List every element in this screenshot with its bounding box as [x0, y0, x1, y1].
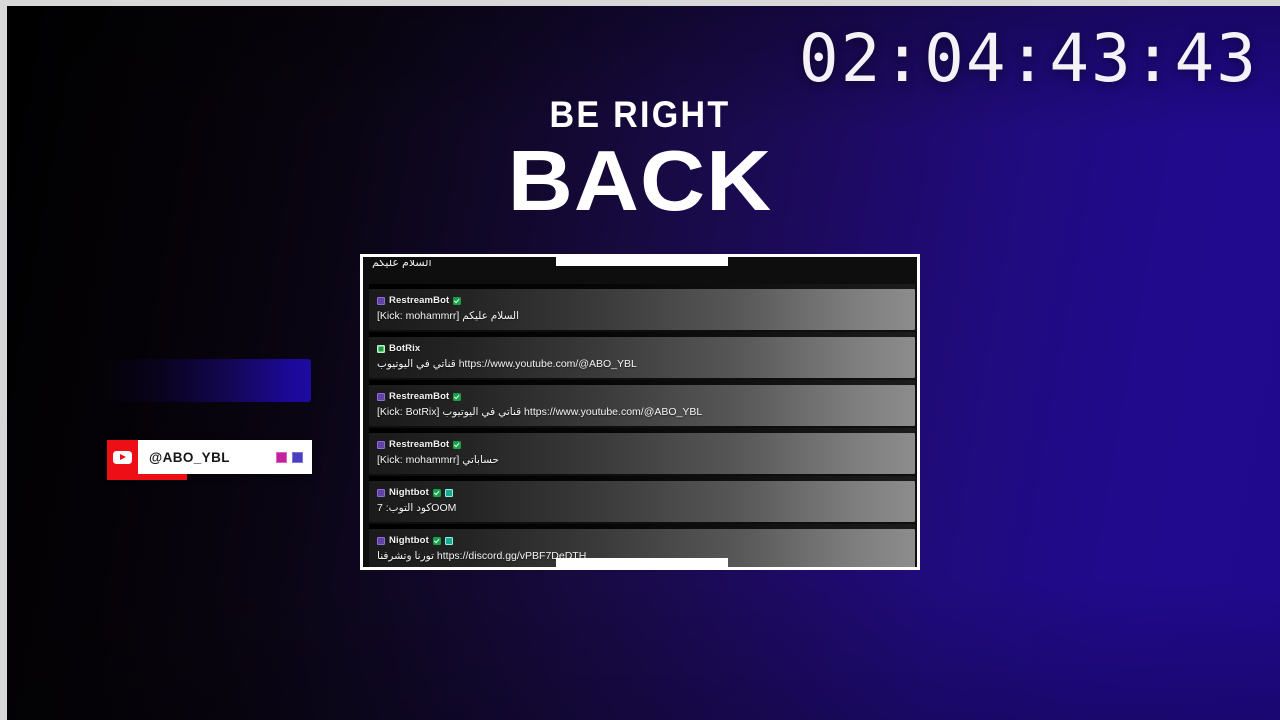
chat-message-row[interactable]: RestreamBot [Kick: BotRix] قناتي في اليو… [369, 385, 915, 426]
lock-badge-icon [445, 537, 453, 545]
chat-username[interactable]: RestreamBot [389, 295, 449, 306]
stream-overlay-screen: 02:04:43:43 BE RIGHT BACK @ABO_YBL السلا… [0, 0, 1280, 720]
chat-scrollbar-top[interactable] [556, 257, 728, 266]
chat-username[interactable]: BotRix [389, 343, 420, 354]
youtube-icon-block [107, 440, 138, 474]
verified-badge-icon [453, 441, 461, 449]
chat-message-text: كود التوب: 7OOM [377, 502, 907, 515]
brb-line-one: BE RIGHT [51, 96, 1229, 133]
verified-badge-icon [453, 393, 461, 401]
window-frame-top [0, 0, 1280, 6]
youtube-handle-badge[interactable]: @ABO_YBL [107, 440, 312, 474]
youtube-handle-text: @ABO_YBL [149, 450, 230, 465]
moderator-badge-icon [377, 537, 385, 545]
chat-username[interactable]: RestreamBot [389, 439, 449, 450]
verified-badge-icon [433, 537, 441, 545]
chat-overlay[interactable]: السلام عليكم RestreamBot [Kick: mohammrr… [360, 254, 920, 570]
brb-headline: BE RIGHT BACK [0, 96, 1280, 226]
youtube-play-icon [113, 451, 132, 464]
moderator-badge-icon [377, 441, 385, 449]
chat-username[interactable]: Nightbot [389, 487, 429, 498]
swatch-magenta [276, 452, 287, 463]
chat-message-header: Nightbot [377, 487, 907, 498]
chat-message-header: RestreamBot [377, 439, 907, 450]
color-swatches [276, 452, 303, 463]
chat-username[interactable]: Nightbot [389, 535, 429, 546]
chat-message-header: RestreamBot [377, 391, 907, 402]
youtube-handle-block: @ABO_YBL [138, 440, 312, 474]
swatch-purple [292, 452, 303, 463]
chat-message-row[interactable]: BotRix قناتي في اليوتيوب https://www.you… [369, 337, 915, 378]
moderator-badge-icon [377, 297, 385, 305]
chat-scrollbar-bottom[interactable] [556, 558, 728, 567]
chat-message-row[interactable]: RestreamBot [Kick: mohammrr] السلام عليك… [369, 289, 915, 330]
chat-message-text: [Kick: mohammrr] حساباتي [377, 454, 907, 467]
chat-message-text: قناتي في اليوتيوب https://www.youtube.co… [377, 358, 907, 371]
chat-message-header: BotRix [377, 343, 907, 354]
countdown-timer: 02:04:43:43 [799, 26, 1258, 92]
chat-message-header: Nightbot [377, 535, 907, 546]
moderator-badge-icon [377, 489, 385, 497]
chat-message-row[interactable]: RestreamBot [Kick: mohammrr] حساباتي [369, 433, 915, 474]
chat-message-text: [Kick: mohammrr] السلام عليكم [377, 310, 907, 323]
moderator-badge-icon [377, 393, 385, 401]
brb-line-two: BACK [0, 139, 1280, 226]
chat-message-header: RestreamBot [377, 295, 907, 306]
chat-message-list[interactable]: السلام عليكم RestreamBot [Kick: mohammrr… [363, 257, 917, 567]
chat-username[interactable]: RestreamBot [389, 391, 449, 402]
chat-message-text: [Kick: BotRix] قناتي في اليوتيوب https:/… [377, 406, 907, 419]
window-frame-left [0, 0, 7, 720]
verified-badge-icon [453, 297, 461, 305]
chat-message-row[interactable]: Nightbot كود التوب: 7OOM [369, 481, 915, 522]
bot-badge-icon [377, 345, 385, 353]
verified-badge-icon [433, 489, 441, 497]
lower-third-banner [107, 359, 311, 402]
lock-badge-icon [445, 489, 453, 497]
